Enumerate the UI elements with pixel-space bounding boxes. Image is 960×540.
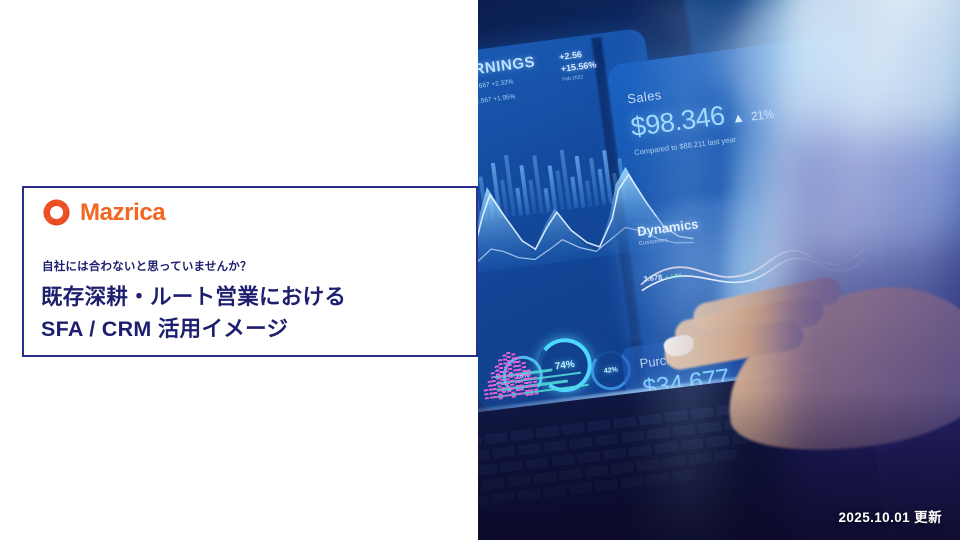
slide-root: ARNINGS o 21.687 +2.32% o 32.567 +1.95% … — [0, 0, 960, 540]
brand-logo: Mazrica — [42, 198, 165, 227]
mazrica-ring-logo-icon — [42, 198, 71, 227]
brand-wordmark: Mazrica — [80, 201, 165, 225]
hero-photo: ARNINGS o 21.687 +2.32% o 32.567 +1.95% … — [478, 0, 960, 540]
page-title-line-1: 既存深耕・ルート営業における — [41, 280, 346, 311]
earnings-delta-block: +2.56 +15.56% Feb 2022 — [559, 48, 599, 83]
page-title-line-2: SFA / CRM 活用イメージ — [41, 312, 288, 343]
earnings-text-block: ARNINGS o 21.687 +2.32% o 32.567 +1.95% … — [478, 53, 540, 110]
updated-date: 2025.10.01 更新 — [838, 506, 942, 526]
earnings-delta-percent: +15.56% — [560, 59, 597, 74]
card-kicker: 自社には合わないと思っていませんか？ — [42, 258, 252, 274]
title-card: Mazrica 自社には合わないと思っていませんか？ 既存深耕・ルート営業におけ… — [22, 186, 478, 357]
